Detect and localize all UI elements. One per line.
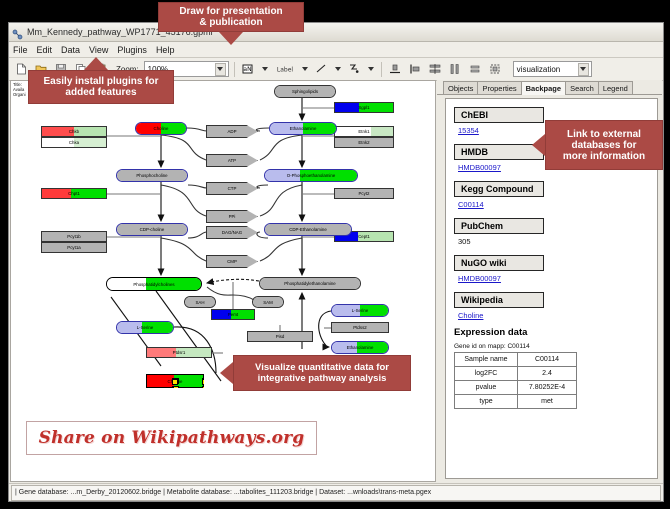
tab-properties[interactable]: Properties xyxy=(477,81,521,94)
database-value: 305 xyxy=(458,237,657,246)
database-group-nugo-wiki: NuGO wikiHMDB00097 xyxy=(454,253,657,283)
metabolite-node-ophosphoeth[interactable]: O-Phosphoethanolamine xyxy=(264,169,358,182)
expression-key: pvalue xyxy=(455,381,518,395)
node-label: Ptdsr1 xyxy=(173,350,186,355)
node-label: Phosphatidylethanolamine xyxy=(284,281,336,286)
group-icon[interactable] xyxy=(487,61,504,78)
metabolite-node-ppi[interactable]: PPi xyxy=(206,210,258,223)
metabolite-node-dagnag[interactable]: DAG/NAG xyxy=(206,226,258,239)
node-label: Ethanolamine xyxy=(347,345,374,350)
callout-plugins-line1: Easily install plugins for xyxy=(43,76,158,87)
toolbar-separator xyxy=(381,62,382,77)
node-label: Pcyt1b xyxy=(67,234,80,239)
expression-value: met xyxy=(518,395,577,409)
callout-external-links: Link to external databases for more info… xyxy=(545,120,663,170)
database-group-kegg-compound: Kegg CompoundC00114 xyxy=(454,179,657,209)
gene-node-etnk2[interactable]: Etnk2 xyxy=(334,137,394,148)
metabolite-node-sah[interactable]: SAH xyxy=(184,296,216,308)
selection-handle[interactable] xyxy=(172,379,178,385)
menu-item-help[interactable]: Help xyxy=(156,45,175,55)
gene-node-sgpl1[interactable]: Sgpl1 xyxy=(334,102,394,113)
node-label: SAH xyxy=(195,300,204,305)
callout-links-line3: more information xyxy=(563,151,645,162)
callout-links-line1: Link to external xyxy=(563,129,645,140)
expression-value: 7.80252E-4 xyxy=(518,381,577,395)
metabolite-node-ethanolamine2[interactable]: Ethanolamine xyxy=(331,341,389,354)
metabolite-node-choline[interactable]: Choline xyxy=(135,122,187,135)
node-label: Etnk2 xyxy=(358,140,369,145)
align-left-icon[interactable] xyxy=(407,61,424,78)
metabolite-node-sphingolipids[interactable]: Sphingolipids xyxy=(274,85,336,98)
menu-item-view[interactable]: View xyxy=(89,45,108,55)
database-name: PubChem xyxy=(454,218,544,234)
selection-handle[interactable] xyxy=(202,379,204,385)
callout-plugins-arrow-icon xyxy=(84,57,108,70)
node-label: CTP xyxy=(228,186,237,191)
database-name: HMDB xyxy=(454,144,544,160)
node-label: L-Serine xyxy=(352,308,369,313)
callout-visualize-data: Visualize quantitative data for integrat… xyxy=(233,355,411,391)
tab-backpage[interactable]: Backpage xyxy=(521,81,566,95)
metabolite-node-choline_sel[interactable]: Choline xyxy=(146,374,204,388)
menu-item-plugins[interactable]: Plugins xyxy=(117,45,147,55)
metabolite-node-adp[interactable]: ADP xyxy=(206,125,258,138)
label-icon[interactable]: Label xyxy=(273,61,297,78)
database-name: Kegg Compound xyxy=(454,181,544,197)
node-label: Sphingolipids xyxy=(292,89,318,94)
datanode-icon[interactable]: aN xyxy=(240,61,257,78)
gene-node-chka[interactable]: Chka xyxy=(41,137,107,148)
database-name: NuGO wiki xyxy=(454,255,544,271)
callout-viz-arrow-icon xyxy=(220,362,233,384)
node-label: Etnk1 xyxy=(358,129,369,134)
tab-legend[interactable]: Legend xyxy=(598,81,633,94)
stack-icon[interactable] xyxy=(467,61,484,78)
svg-text:aN: aN xyxy=(243,66,251,73)
table-row: pvalue7.80252E-4 xyxy=(455,381,577,395)
table-row: typemet xyxy=(455,395,577,409)
callout-draw-arrow-icon xyxy=(219,32,243,45)
menu-bar: File Edit Data View Plugins Help xyxy=(9,42,663,58)
node-label: Chka xyxy=(69,140,79,145)
node-label: Chkb xyxy=(69,129,79,134)
metabolite-node-ethanolamine1[interactable]: Ethanolamine xyxy=(269,122,337,135)
menu-item-data[interactable]: Data xyxy=(61,45,80,55)
datanode-dropdown-icon[interactable] xyxy=(260,61,270,78)
node-label: Ptdss2 xyxy=(353,325,366,330)
callout-draw-line1: Draw for presentation xyxy=(179,6,282,17)
anchor-dropdown-icon[interactable] xyxy=(366,61,376,78)
expression-key: Sample name xyxy=(455,353,518,367)
tab-objects[interactable]: Objects xyxy=(443,81,478,94)
metabolite-node-cmp[interactable]: CMP xyxy=(206,255,258,268)
database-group-pubchem: PubChem305 xyxy=(454,216,657,246)
toolbar-separator xyxy=(234,62,235,77)
metabolite-node-lserine1[interactable]: L-Serine xyxy=(331,304,389,317)
status-bar: | Gene database: ...m_Derby_20120602.bri… xyxy=(9,483,663,501)
node-label: Pemt xyxy=(228,312,238,317)
node-label: CDP-choline xyxy=(140,227,165,232)
node-label: Pcyt1a xyxy=(67,245,80,250)
callout-install-plugins: Easily install plugins for added feature… xyxy=(28,70,174,104)
node-label: SAM xyxy=(263,300,273,305)
table-row: log2FC2.4 xyxy=(455,367,577,381)
gene-node-etnk1[interactable]: Etnk1 xyxy=(334,126,394,137)
gene-node-pcyt1a[interactable]: Pcyt1a xyxy=(41,242,107,253)
expression-table: Sample nameC00114log2FC2.4pvalue7.80252E… xyxy=(454,352,577,409)
metabolite-node-atp[interactable]: ATP xyxy=(206,154,258,167)
expression-value: C00114 xyxy=(518,353,577,367)
node-label: Ethanolamine xyxy=(290,126,317,131)
menu-item-edit[interactable]: Edit xyxy=(37,45,53,55)
expression-data-heading: Expression data xyxy=(454,327,657,338)
gene-id-on-mapp: Gene id on mapp: C00114 xyxy=(454,343,657,350)
expression-key: log2FC xyxy=(455,367,518,381)
distribute-vertical-icon[interactable] xyxy=(427,61,444,78)
node-label: Phosphatidylcholines xyxy=(133,282,174,287)
database-group-wikipedia: WikipediaCholine xyxy=(454,290,657,320)
metabolite-node-ptdcholines[interactable]: Phosphatidylcholines xyxy=(106,277,202,291)
database-link[interactable]: C00114 xyxy=(458,200,657,209)
node-label: L-Serine xyxy=(137,325,154,330)
callout-viz-line2: integrative pathway analysis xyxy=(255,373,389,384)
node-label: Cept1 xyxy=(358,234,370,239)
gene-node-ptdsr1[interactable]: Ptdsr1 xyxy=(146,347,212,358)
svg-text:Label: Label xyxy=(277,67,294,74)
label-dropdown-icon[interactable] xyxy=(300,61,310,78)
table-row: Sample nameC00114 xyxy=(455,353,577,367)
metabolite-node-lserine2[interactable]: L-Serine xyxy=(116,321,174,334)
node-label: O-Phosphoethanolamine xyxy=(287,173,336,178)
line-icon[interactable] xyxy=(313,61,330,78)
node-label: CDP-Ethanolamine xyxy=(289,227,327,232)
new-icon[interactable] xyxy=(12,61,29,78)
menu-item-file[interactable]: File xyxy=(13,45,28,55)
callout-links-arrow-icon xyxy=(532,134,545,156)
anchor-icon[interactable] xyxy=(346,61,363,78)
callout-viz-line1: Visualize quantitative data for xyxy=(255,362,389,373)
node-label: Phosphocholine xyxy=(136,173,167,178)
side-panel-tabs[interactable]: ObjectsPropertiesBackpageSearchLegend xyxy=(437,80,662,95)
database-name: Wikipedia xyxy=(454,292,544,308)
gene-node-pemt[interactable]: Pemt xyxy=(211,309,255,320)
align-bottom-icon[interactable] xyxy=(387,61,404,78)
metabolite-node-sam[interactable]: SAM xyxy=(252,296,284,308)
metabolite-node-ptdethanolamine[interactable]: Phosphatidylethanolamine xyxy=(259,277,361,290)
status-text: | Gene database: ...m_Derby_20120602.bri… xyxy=(11,485,661,501)
callout-draw-for-publication: Draw for presentation & publication xyxy=(158,2,304,32)
pathvisio-icon xyxy=(12,27,23,38)
window-titlebar: Mm_Kennedy_pathway_WP1771_45176.gpml xyxy=(9,23,663,42)
metabolite-node-cdpethanolamine[interactable]: CDP-Ethanolamine xyxy=(264,223,352,236)
metabolite-node-ctp[interactable]: CTP xyxy=(206,182,258,195)
callout-draw-line2: & publication xyxy=(179,17,282,28)
selection-handle[interactable] xyxy=(173,386,179,388)
visualization-value: visualization xyxy=(517,65,561,74)
node-label: Pisd xyxy=(276,334,285,339)
database-link[interactable]: Choline xyxy=(458,311,657,320)
expression-value: 2.4 xyxy=(518,367,577,381)
node-label: Chpt1 xyxy=(68,191,80,196)
gene-node-chpt1[interactable]: Chpt1 xyxy=(41,188,107,199)
node-label: PPi xyxy=(229,214,236,219)
visualization-combo[interactable]: visualization xyxy=(513,61,592,77)
node-label: Sgpl1 xyxy=(358,105,369,110)
node-label: ATP xyxy=(228,158,236,163)
screenshot-root: Mm_Kennedy_pathway_WP1771_45176.gpml Fil… xyxy=(0,0,670,509)
gene-node-chkb[interactable]: Chkb xyxy=(41,126,107,137)
callout-links-line2: databases for xyxy=(563,140,645,151)
gene-node-pcyt2[interactable]: Pcyt2 xyxy=(334,188,394,199)
node-label: Choline xyxy=(154,126,169,131)
chevron-down-icon[interactable] xyxy=(578,63,589,76)
gene-node-pisd[interactable]: Pisd xyxy=(247,331,313,342)
line-dropdown-icon[interactable] xyxy=(333,61,343,78)
callout-plugins-line2: added features xyxy=(43,87,158,98)
expression-key: type xyxy=(455,395,518,409)
database-link[interactable]: HMDB00097 xyxy=(458,274,657,283)
metabolite-node-cdpcholine[interactable]: CDP-choline xyxy=(116,223,188,236)
selection-handle[interactable] xyxy=(202,386,204,388)
gene-node-pcyt1b[interactable]: Pcyt1b xyxy=(41,231,107,242)
tab-search[interactable]: Search xyxy=(565,81,599,94)
share-banner-text: Share on Wikipathways.org xyxy=(39,428,305,448)
node-label: Pcyt2 xyxy=(359,191,370,196)
share-on-wikipathways-banner: Share on Wikipathways.org xyxy=(26,421,317,455)
database-name: ChEBI xyxy=(454,107,544,123)
chevron-down-icon[interactable] xyxy=(215,63,226,76)
distribute-horizontal-icon[interactable] xyxy=(447,61,464,78)
node-label: CMP xyxy=(227,259,237,264)
node-label: DAG/NAG xyxy=(222,230,242,235)
gene-node-ptdss2[interactable]: Ptdss2 xyxy=(331,322,389,333)
node-label: ADP xyxy=(227,129,236,134)
metabolite-node-phosphocholine[interactable]: Phosphocholine xyxy=(116,169,188,182)
